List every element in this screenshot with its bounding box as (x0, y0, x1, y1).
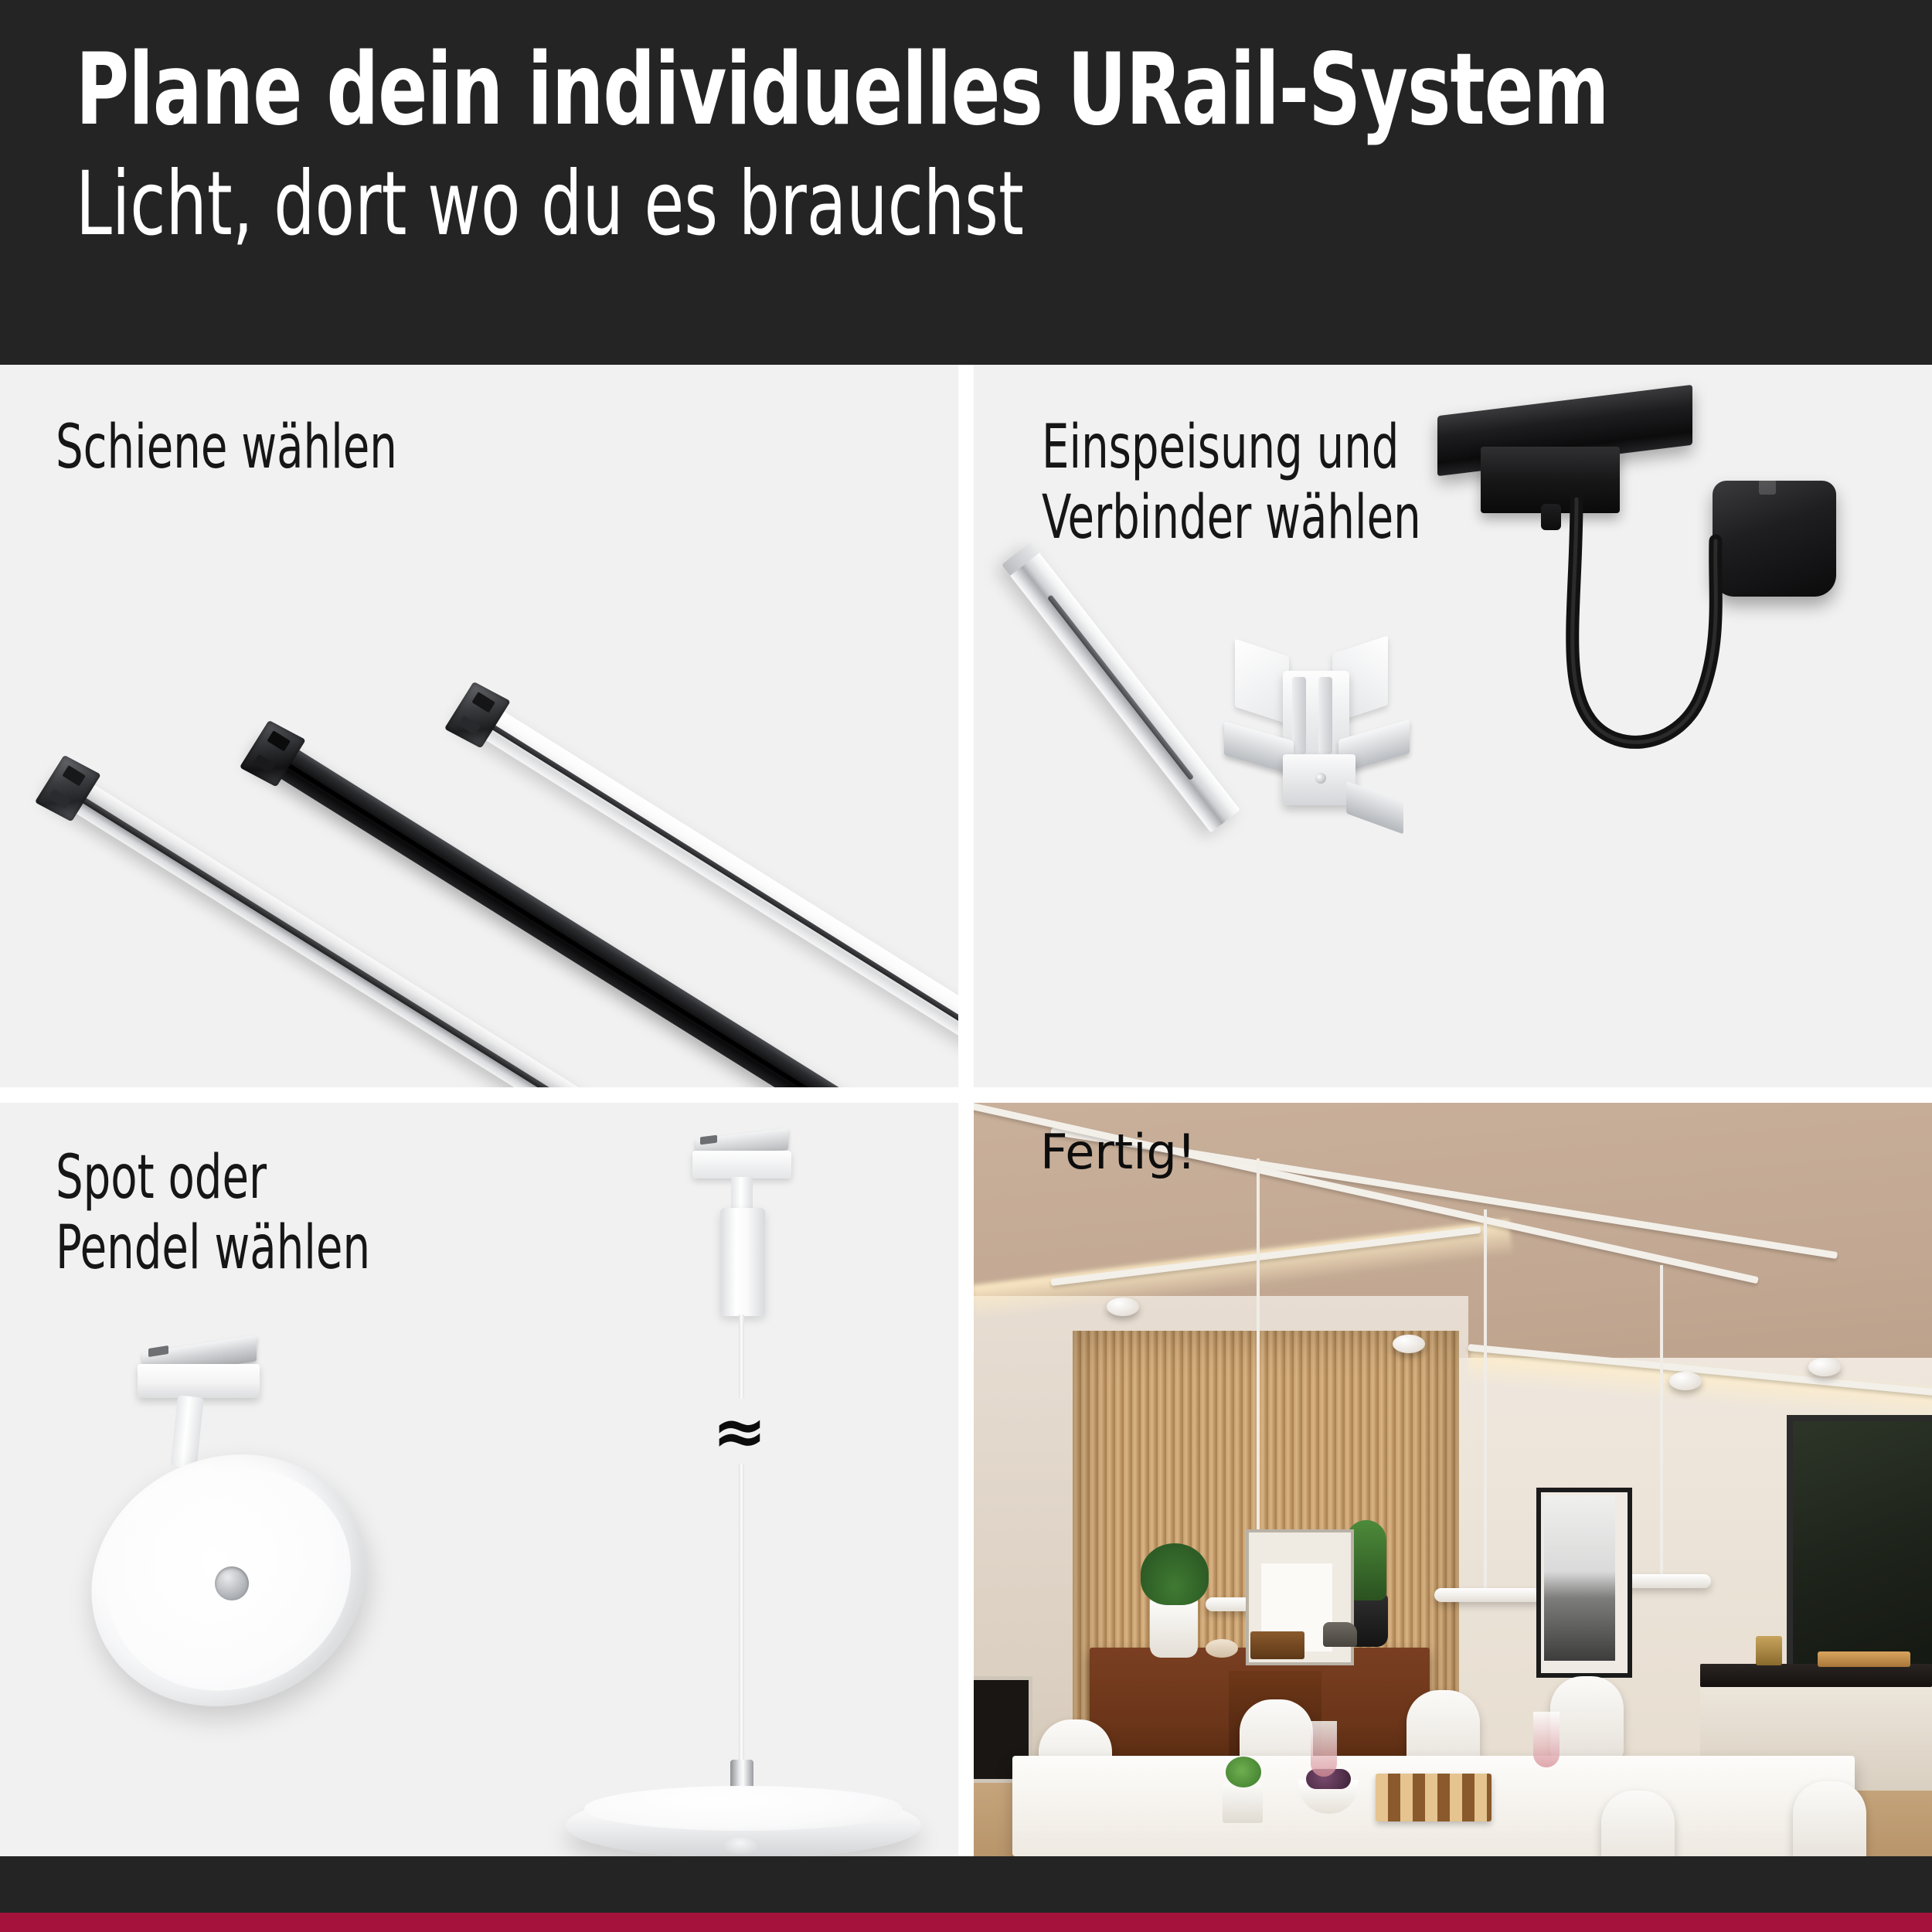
quadrant-schiene-label: Schiene wählen (56, 413, 397, 483)
adjustable-length-icon: ≈ (692, 1398, 787, 1464)
quadrant-einspeisung-label: Einspeisung und Verbinder wählen (1042, 413, 1421, 554)
pendant-disc-2 (1434, 1588, 1543, 1602)
track-pendant-white[interactable]: ≈ (541, 1111, 943, 1798)
cable-supply-black[interactable] (1538, 450, 1870, 790)
wine-glass-1 (1311, 1721, 1337, 1777)
steps-grid: Schiene wählen (0, 365, 1932, 1856)
footer-bar (0, 1856, 1932, 1913)
page-title: Plane dein individuelles URail-System (76, 37, 1533, 144)
header-banner: Plane dein individuelles URail-System Li… (0, 0, 1932, 365)
wooden-box (1250, 1631, 1304, 1659)
room-scene (974, 1103, 1932, 1856)
cross-connector-white[interactable] (1202, 640, 1458, 872)
chair-4 (1550, 1676, 1624, 1761)
quadrant-fertig[interactable]: Fertig! (974, 1103, 1932, 1856)
lighthouse-photo (1544, 1495, 1615, 1661)
track-spot-3 (1669, 1372, 1702, 1390)
kitchen-counter (1700, 1664, 1932, 1687)
pendant-cord-2 (1484, 1209, 1487, 1592)
page-subtitle: Licht, dort wo du es brauchst (76, 155, 1533, 253)
approx-symbol: ≈ (713, 1399, 767, 1464)
succulent-pot (1223, 1783, 1263, 1823)
header-text-block: Plane dein individuelles URail-System Li… (76, 37, 1853, 253)
quadrant-schiene[interactable]: Schiene wählen (0, 365, 958, 1087)
plant-green-1 (1141, 1543, 1209, 1605)
quadrant-leuchte[interactable]: Spot oder Pendel wählen (0, 1103, 958, 1856)
window (1787, 1415, 1932, 1682)
track-spot-4 (1808, 1358, 1841, 1376)
brand-accent-bar (0, 1913, 1932, 1932)
power-cord (1538, 450, 1870, 790)
quadrant-fertig-label: Fertig! (1040, 1124, 1196, 1181)
chair-5 (1601, 1791, 1675, 1856)
wine-glass-2 (1533, 1712, 1560, 1767)
urail-infographic: Plane dein individuelles URail-System Li… (0, 0, 1932, 1932)
plant-pot-white (1150, 1597, 1198, 1658)
track-spot-2 (1393, 1335, 1425, 1353)
shell-ornament (1206, 1639, 1238, 1658)
track-spot-1 (1107, 1298, 1139, 1316)
pendant-cord-3 (1660, 1265, 1663, 1578)
cutting-board-fruit (1818, 1651, 1910, 1667)
quadrant-leuchte-label: Spot oder Pendel wählen (56, 1143, 370, 1284)
track-spot-white[interactable] (83, 1335, 408, 1706)
quadrant-einspeisung[interactable]: Einspeisung und Verbinder wählen (974, 365, 1932, 1087)
chess-board (1376, 1774, 1492, 1821)
chair-6 (1793, 1781, 1866, 1856)
elephant-figurine (1323, 1622, 1357, 1647)
succulent-plant (1226, 1757, 1261, 1787)
oil-bottles (1756, 1636, 1782, 1665)
